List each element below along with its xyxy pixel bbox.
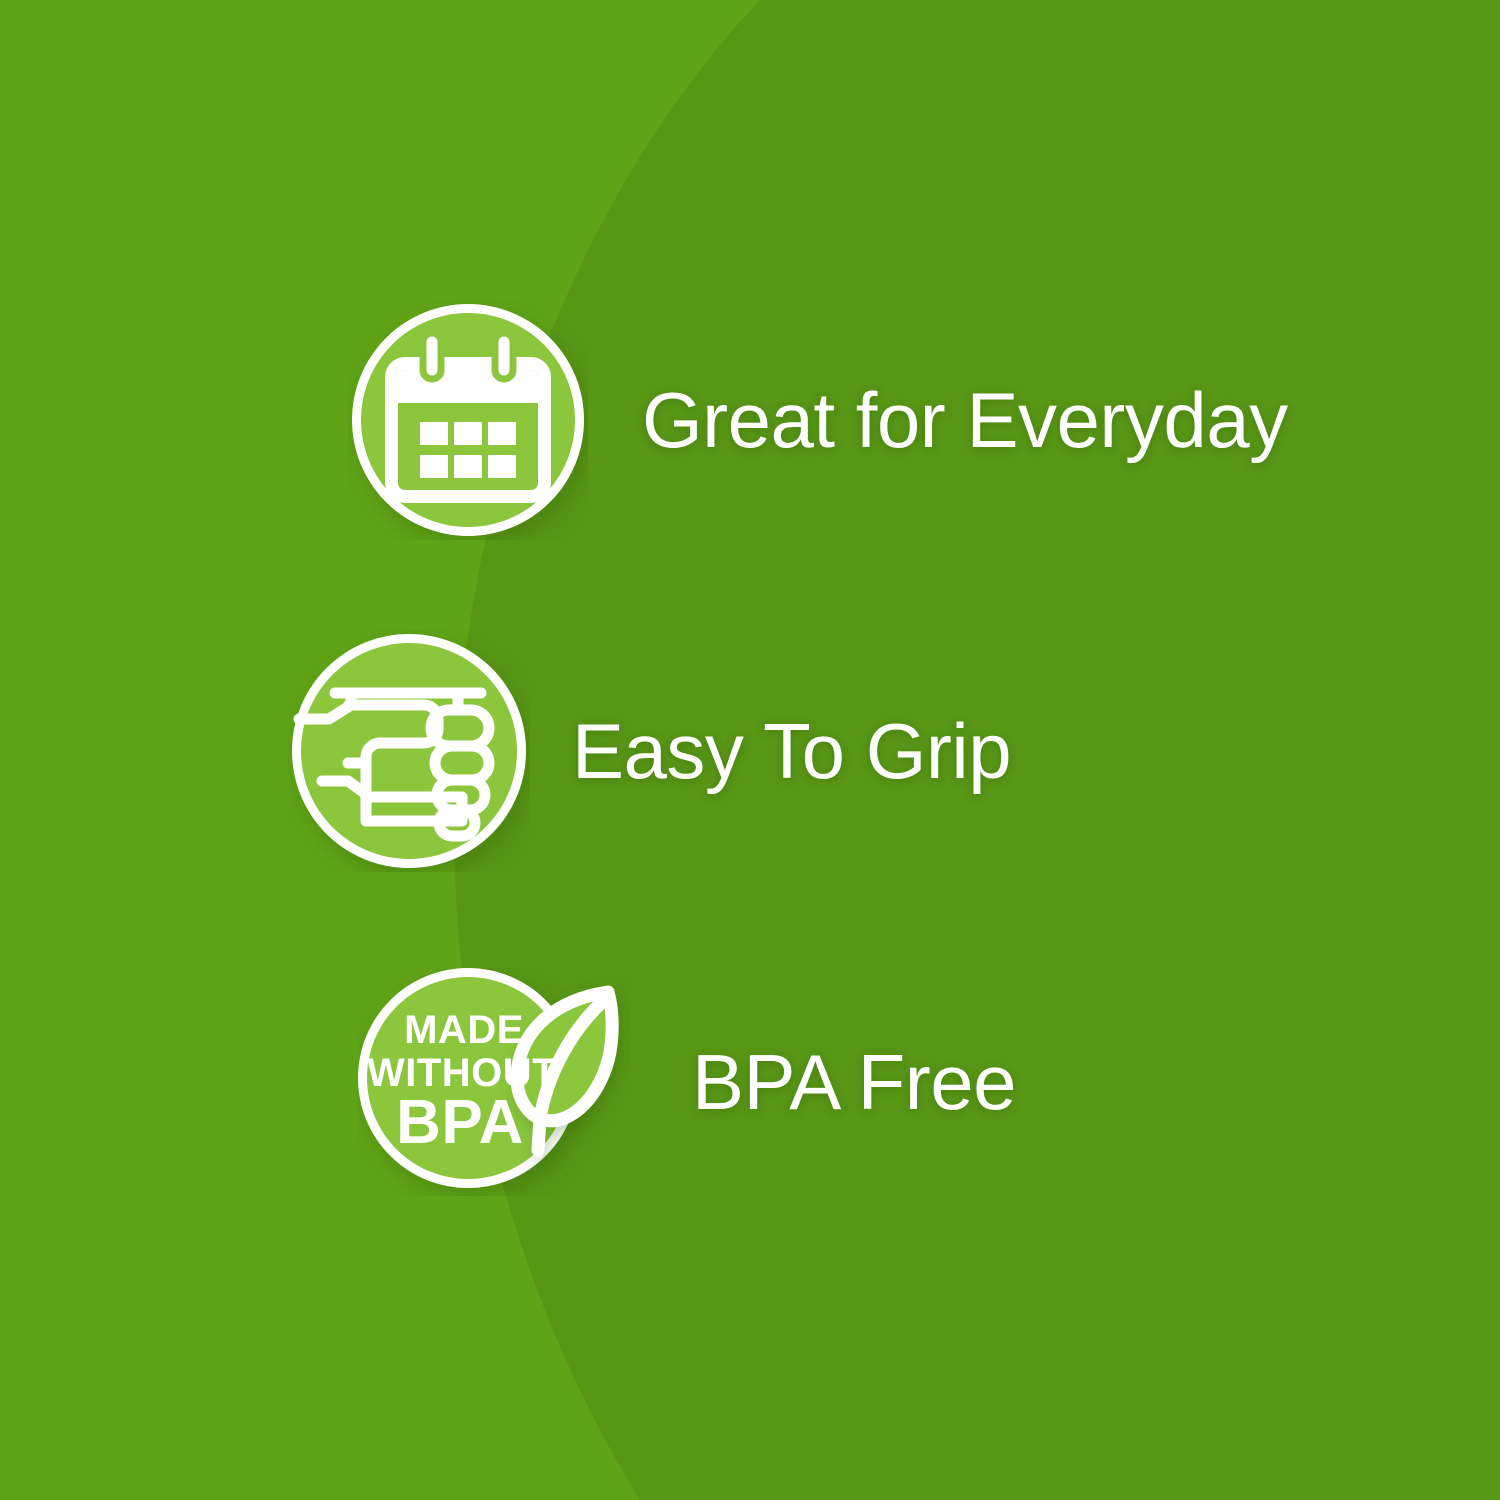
hand-grip-icon xyxy=(288,630,530,872)
hand-grip-badge xyxy=(288,630,530,872)
feature-label-easy-to-grip: Easy To Grip xyxy=(572,712,1011,790)
feature-label-bpa-free: BPA Free xyxy=(692,1043,1016,1121)
bpa-seal-line3: BPA xyxy=(396,1088,524,1157)
feature-row-great-for-everyday: Great for Everyday xyxy=(348,300,1288,540)
feature-label-great-for-everyday: Great for Everyday xyxy=(642,381,1288,459)
feature-row-bpa-free: MADE WITHOUT BPA BPA Free xyxy=(358,968,1016,1196)
calendar-badge xyxy=(348,300,588,540)
feature-graphic: Great for Everyday xyxy=(0,0,1500,1500)
bpa-seal-line1: MADE xyxy=(404,1008,524,1052)
feature-row-easy-to-grip: Easy To Grip xyxy=(288,630,1011,872)
bpa-seal-badge: MADE WITHOUT BPA xyxy=(358,968,630,1196)
made-without-bpa-seal-icon: MADE WITHOUT BPA xyxy=(358,968,630,1196)
calendar-icon xyxy=(348,300,588,540)
